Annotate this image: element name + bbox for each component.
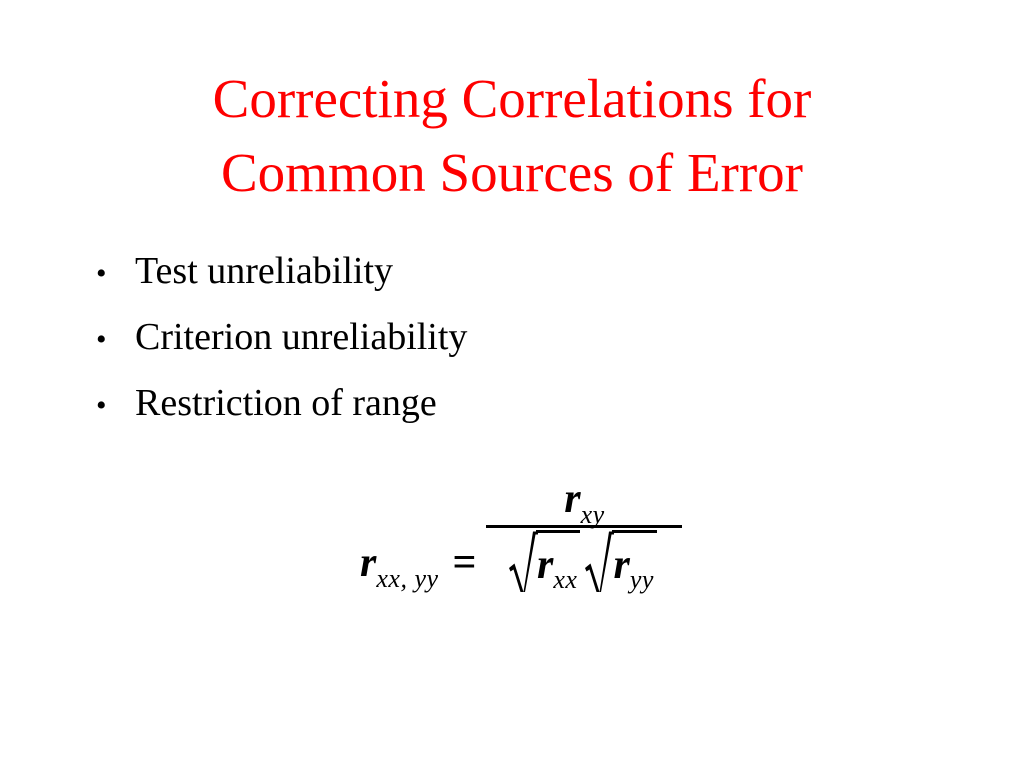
bullet-point-icon: •: [92, 317, 135, 363]
formula-radicand-symbol: r: [613, 544, 629, 586]
bullet-point-icon: •: [92, 251, 135, 297]
formula-radicand-subscript: yy: [630, 567, 654, 593]
square-root-icon: [508, 530, 538, 592]
formula-numerator-subscript: xy: [581, 500, 605, 529]
formula-radical-term: ryy: [584, 530, 656, 592]
list-item: • Test unreliability: [92, 248, 912, 314]
slide-title-line-1: Correcting Correlations for: [62, 62, 962, 136]
formula-block: rxx, yy = rxy rxx: [360, 478, 682, 592]
bullet-item-label: Criterion unreliability: [135, 314, 467, 360]
formula-equals-sign: =: [439, 486, 487, 584]
formula-lhs-subscript: xx, yy: [376, 564, 438, 593]
list-item: • Restriction of range: [92, 380, 912, 446]
formula-radicand: rxx: [536, 530, 580, 592]
slide-title-line-2: Common Sources of Error: [62, 136, 962, 210]
bullet-list: • Test unreliability • Criterion unrelia…: [92, 248, 912, 446]
formula-numerator-symbol: r: [564, 476, 580, 522]
formula-radicand: ryy: [612, 530, 656, 592]
formula-numerator: rxy: [564, 478, 604, 525]
formula-lhs-symbol: r: [360, 540, 376, 586]
formula-denominator: rxx ryy: [508, 528, 661, 592]
list-item: • Criterion unreliability: [92, 314, 912, 380]
formula-radicand-symbol: r: [537, 544, 553, 586]
slide-title: Correcting Correlations for Common Sourc…: [62, 62, 962, 210]
bullet-item-label: Restriction of range: [135, 380, 437, 426]
bullet-point-icon: •: [92, 383, 135, 429]
slide-canvas: Correcting Correlations for Common Sourc…: [0, 0, 1024, 768]
formula-radical-term: rxx: [508, 530, 580, 592]
square-root-icon: [584, 530, 614, 592]
bullet-item-label: Test unreliability: [135, 248, 393, 294]
formula-fraction: rxy rxx ryy: [486, 478, 682, 592]
formula-left-hand-side: rxx, yy: [360, 486, 439, 585]
formula-radicand-subscript: xx: [553, 567, 577, 593]
